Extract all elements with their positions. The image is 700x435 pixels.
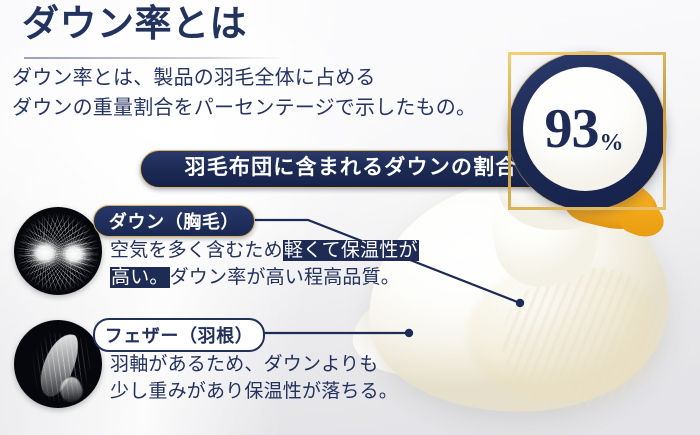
down-cluster-right	[54, 237, 94, 271]
down-text-after: ダウン率が高い程高品質。	[170, 267, 400, 288]
badge-value: 93	[545, 101, 599, 157]
lead-line-2: ダウンの重量割合をパーセンテージで示したもの。	[12, 94, 512, 124]
feather-text-line-1: 羽軸があるため、ダウンよりも	[110, 352, 430, 379]
feather-label-pill: フェザー（羽根）	[93, 318, 265, 352]
infographic-root: ダウン率とは ダウン率とは、製品の羽毛全体に占める ダウンの重量割合をパーセンテ…	[0, 0, 700, 435]
feather-label-text: フェザー（羽根）	[105, 322, 254, 348]
banner: 羽毛布団に含まれるダウンの割合	[140, 150, 562, 188]
page-title: ダウン率とは	[22, 4, 247, 47]
down-thumbnail	[14, 207, 102, 295]
badge-unit: %	[600, 130, 624, 157]
down-label-text: ダウン（胸毛）	[109, 208, 239, 234]
feather-description: 羽軸があるため、ダウンよりも 少し重みがあり保温性が落ちる。	[110, 352, 430, 406]
banner-text: 羽毛布団に含まれるダウンの割合	[141, 151, 561, 184]
feather-text-line-2: 少し重みがあり保温性が落ちる。	[110, 379, 430, 406]
title-underline	[24, 57, 286, 59]
feather-thumbnail	[14, 320, 102, 408]
down-text-before: 空気を多く含むため	[110, 240, 283, 261]
lead-paragraph: ダウン率とは、製品の羽毛全体に占める ダウンの重量割合をパーセンテージで示したも…	[12, 64, 512, 123]
down-description: 空気を多く含むため軽くて保温性が高い。ダウン率が高い程高品質。	[110, 238, 420, 292]
badge-inner-circle: 93 %	[523, 67, 647, 191]
down-label-pill: ダウン（胸毛）	[93, 205, 255, 237]
down-ratio-badge: 93 %	[508, 52, 666, 210]
lead-line-1: ダウン率とは、製品の羽毛全体に占める	[12, 64, 512, 94]
